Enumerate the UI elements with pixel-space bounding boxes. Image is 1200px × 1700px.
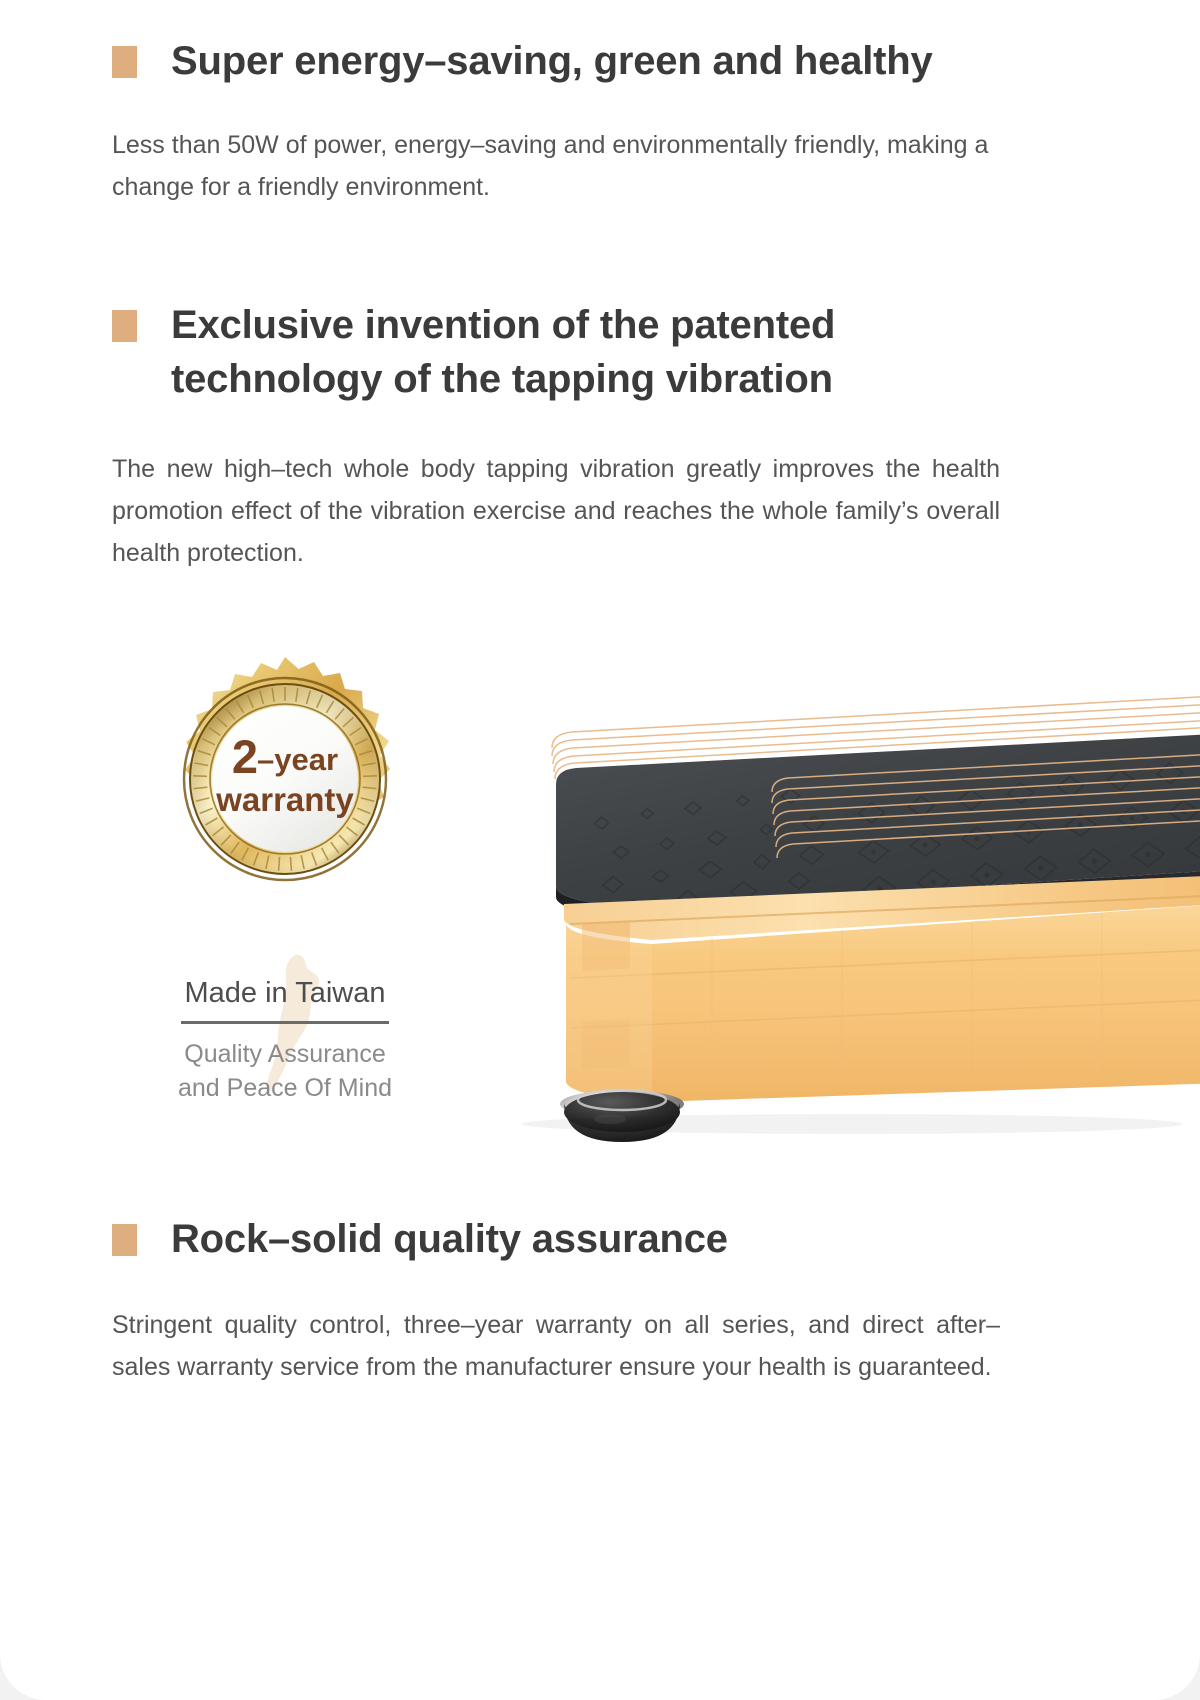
section-heading-row: Rock–solid quality assurance bbox=[112, 1212, 1012, 1266]
section-body: The new high–tech whole body tapping vib… bbox=[112, 448, 1000, 574]
origin-subtitle-line2: and Peace Of Mind bbox=[150, 1071, 420, 1105]
section-body: Less than 50W of power, energy–saving an… bbox=[112, 124, 1007, 208]
product-image bbox=[452, 672, 1200, 1142]
made-in-title: Made in Taiwan bbox=[181, 973, 390, 1024]
feature-section-energy-saving: Super energy–saving, green and healthy L… bbox=[112, 34, 1012, 208]
bullet-square-icon bbox=[112, 310, 137, 342]
product-feature-page: Super energy–saving, green and healthy L… bbox=[0, 0, 1200, 1700]
feature-section-tapping-vibration: Exclusive invention of the patented tech… bbox=[112, 298, 1012, 574]
feature-section-quality-assurance: Rock–solid quality assurance Stringent q… bbox=[112, 1212, 1012, 1388]
origin-subtitle-line1: Quality Assurance bbox=[150, 1037, 420, 1071]
section-heading: Rock–solid quality assurance bbox=[171, 1212, 728, 1266]
section-body: Stringent quality control, three–year wa… bbox=[112, 1304, 1000, 1388]
section-heading: Super energy–saving, green and healthy bbox=[171, 34, 933, 88]
section-heading-row: Super energy–saving, green and healthy bbox=[112, 34, 1012, 88]
warranty-and-origin-block: 2–year warranty Made in Taiwan Quality A… bbox=[150, 655, 420, 1105]
bullet-square-icon bbox=[112, 46, 137, 78]
section-heading-row: Exclusive invention of the patented tech… bbox=[112, 298, 1012, 406]
vibration-plate-illustration bbox=[452, 672, 1200, 1142]
section-heading: Exclusive invention of the patented tech… bbox=[171, 298, 1012, 406]
made-in-taiwan-block: Made in Taiwan Quality Assurance and Pea… bbox=[150, 973, 420, 1105]
gold-seal-icon bbox=[161, 655, 409, 903]
warranty-badge: 2–year warranty bbox=[161, 655, 409, 903]
bullet-square-icon bbox=[112, 1224, 137, 1256]
